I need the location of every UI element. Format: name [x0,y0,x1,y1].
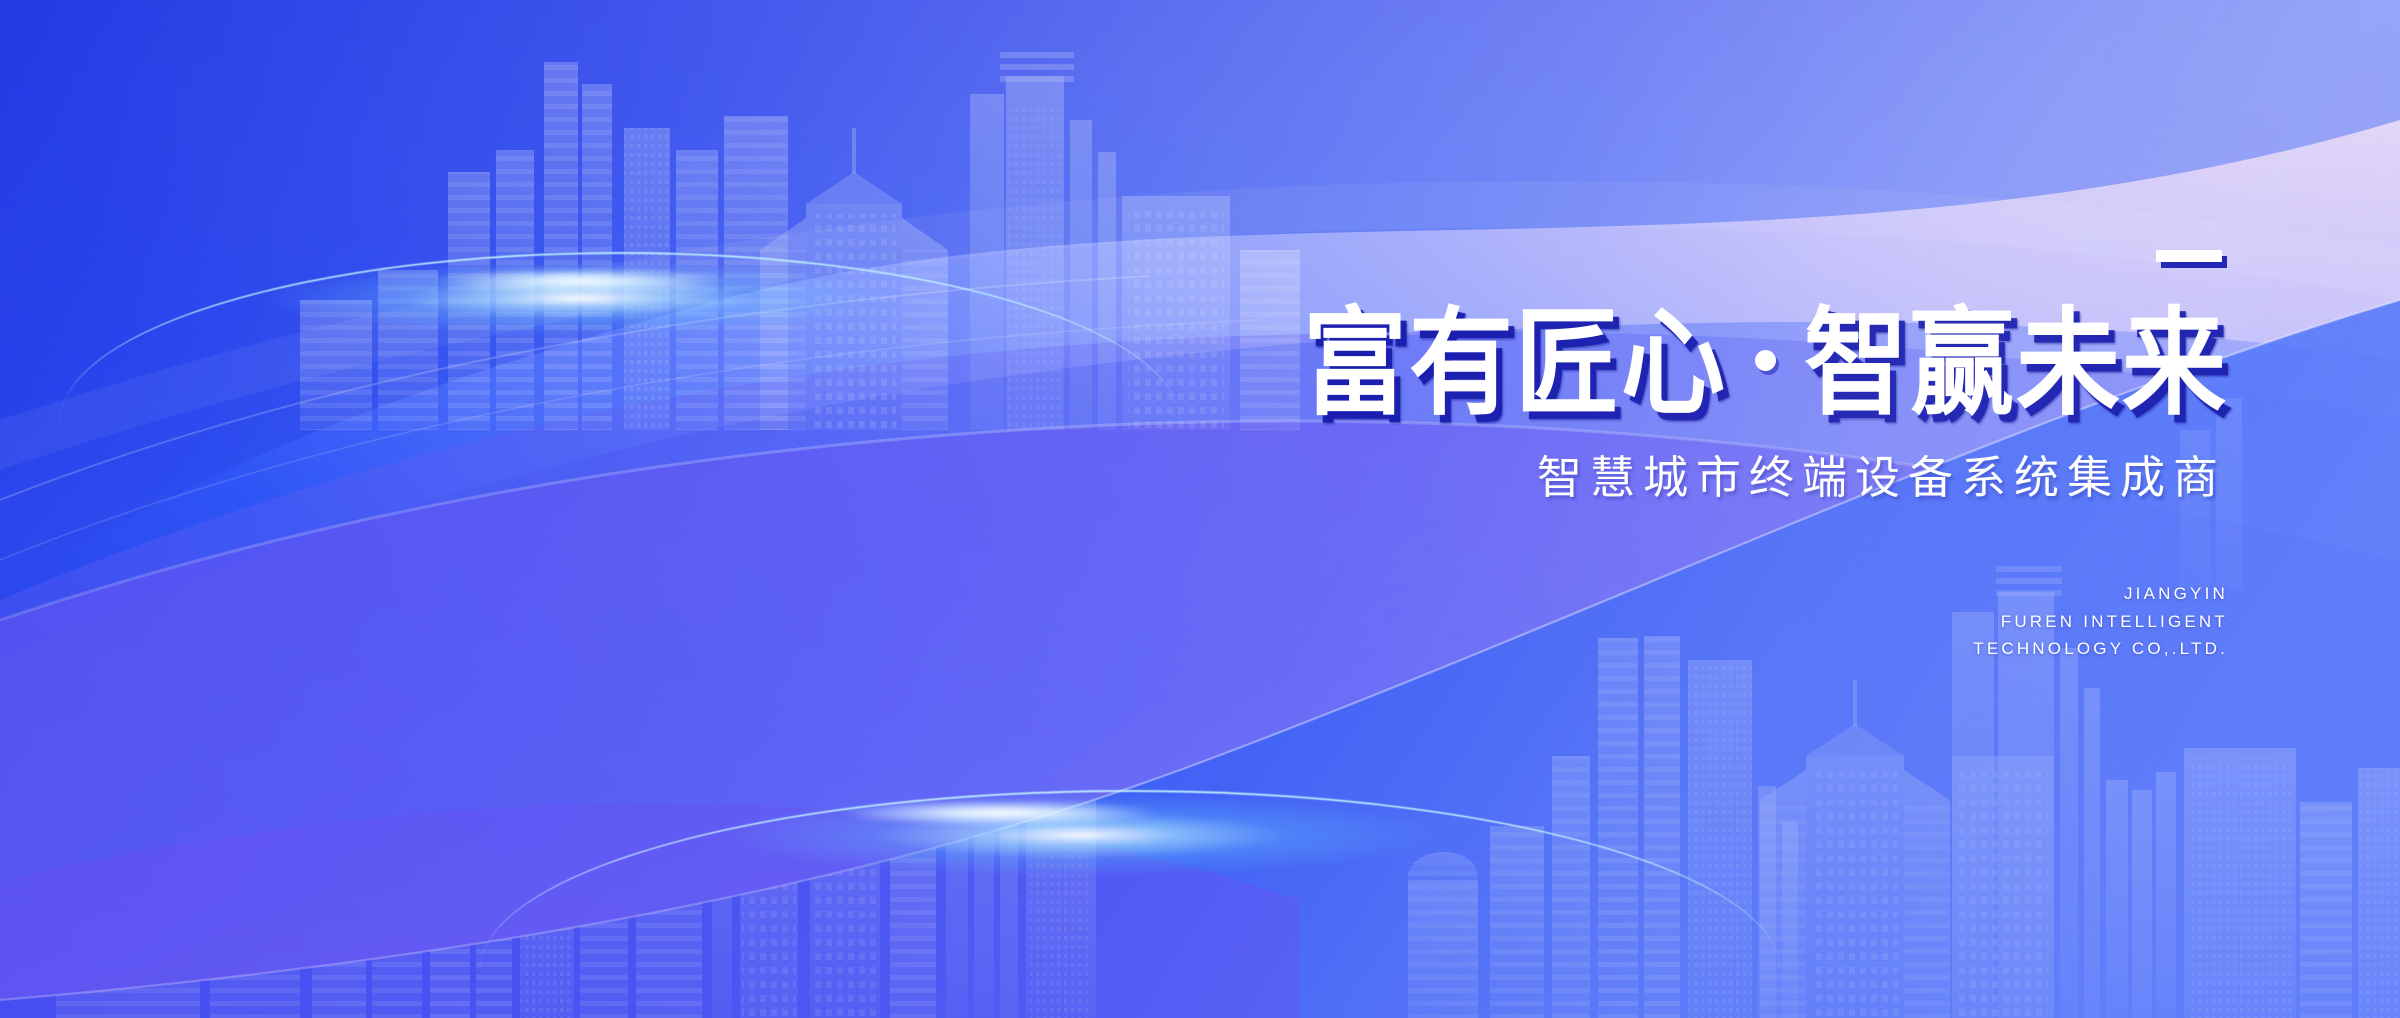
company-line-1: JIANGYIN [1068,580,2228,608]
dash-accent-mark [2156,250,2222,262]
headline-block: 富有匠心 智赢未来 智慧城市终端设备系统集成商 JIANGYIN FUREN I… [1068,250,2228,663]
headline-right-text: 智赢未来 [1804,305,2228,421]
company-line-3: TECHNOLOGY CO,.LTD. [1068,635,2228,663]
company-line-2: FUREN INTELLIGENT [1068,608,2228,636]
subtitle-text: 智慧城市终端设备系统集成商 [1068,441,2228,506]
company-name-block: JIANGYIN FUREN INTELLIGENT TECHNOLOGY CO… [1068,580,2228,663]
banner-poster: 富有匠心 智赢未来 智慧城市终端设备系统集成商 JIANGYIN FUREN I… [0,0,2400,1018]
headline-left-text: 富有匠心 [1303,305,1727,421]
headline-separator-dot [1755,350,1776,371]
main-headline: 富有匠心 智赢未来 [1068,311,2228,415]
